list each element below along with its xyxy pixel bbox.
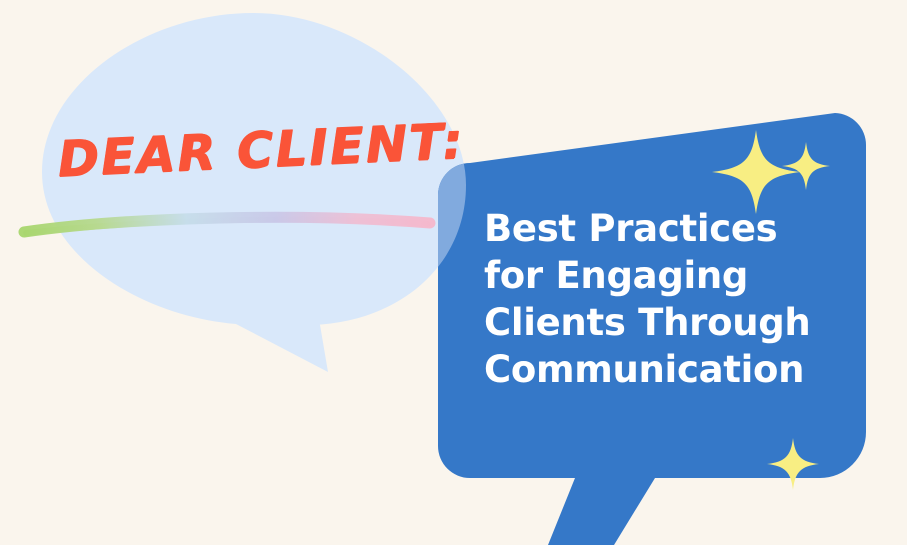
headline-line-1: Best Practices [484,205,829,252]
poster-canvas: DEAR CLIENT: Best Practices for Engaging… [0,0,907,545]
headline-line-4: Communication [484,346,829,393]
headline: Best Practices for Engaging Clients Thro… [484,205,829,393]
headline-line-2: for Engaging [484,252,829,299]
headline-line-3: Clients Through [484,299,829,346]
